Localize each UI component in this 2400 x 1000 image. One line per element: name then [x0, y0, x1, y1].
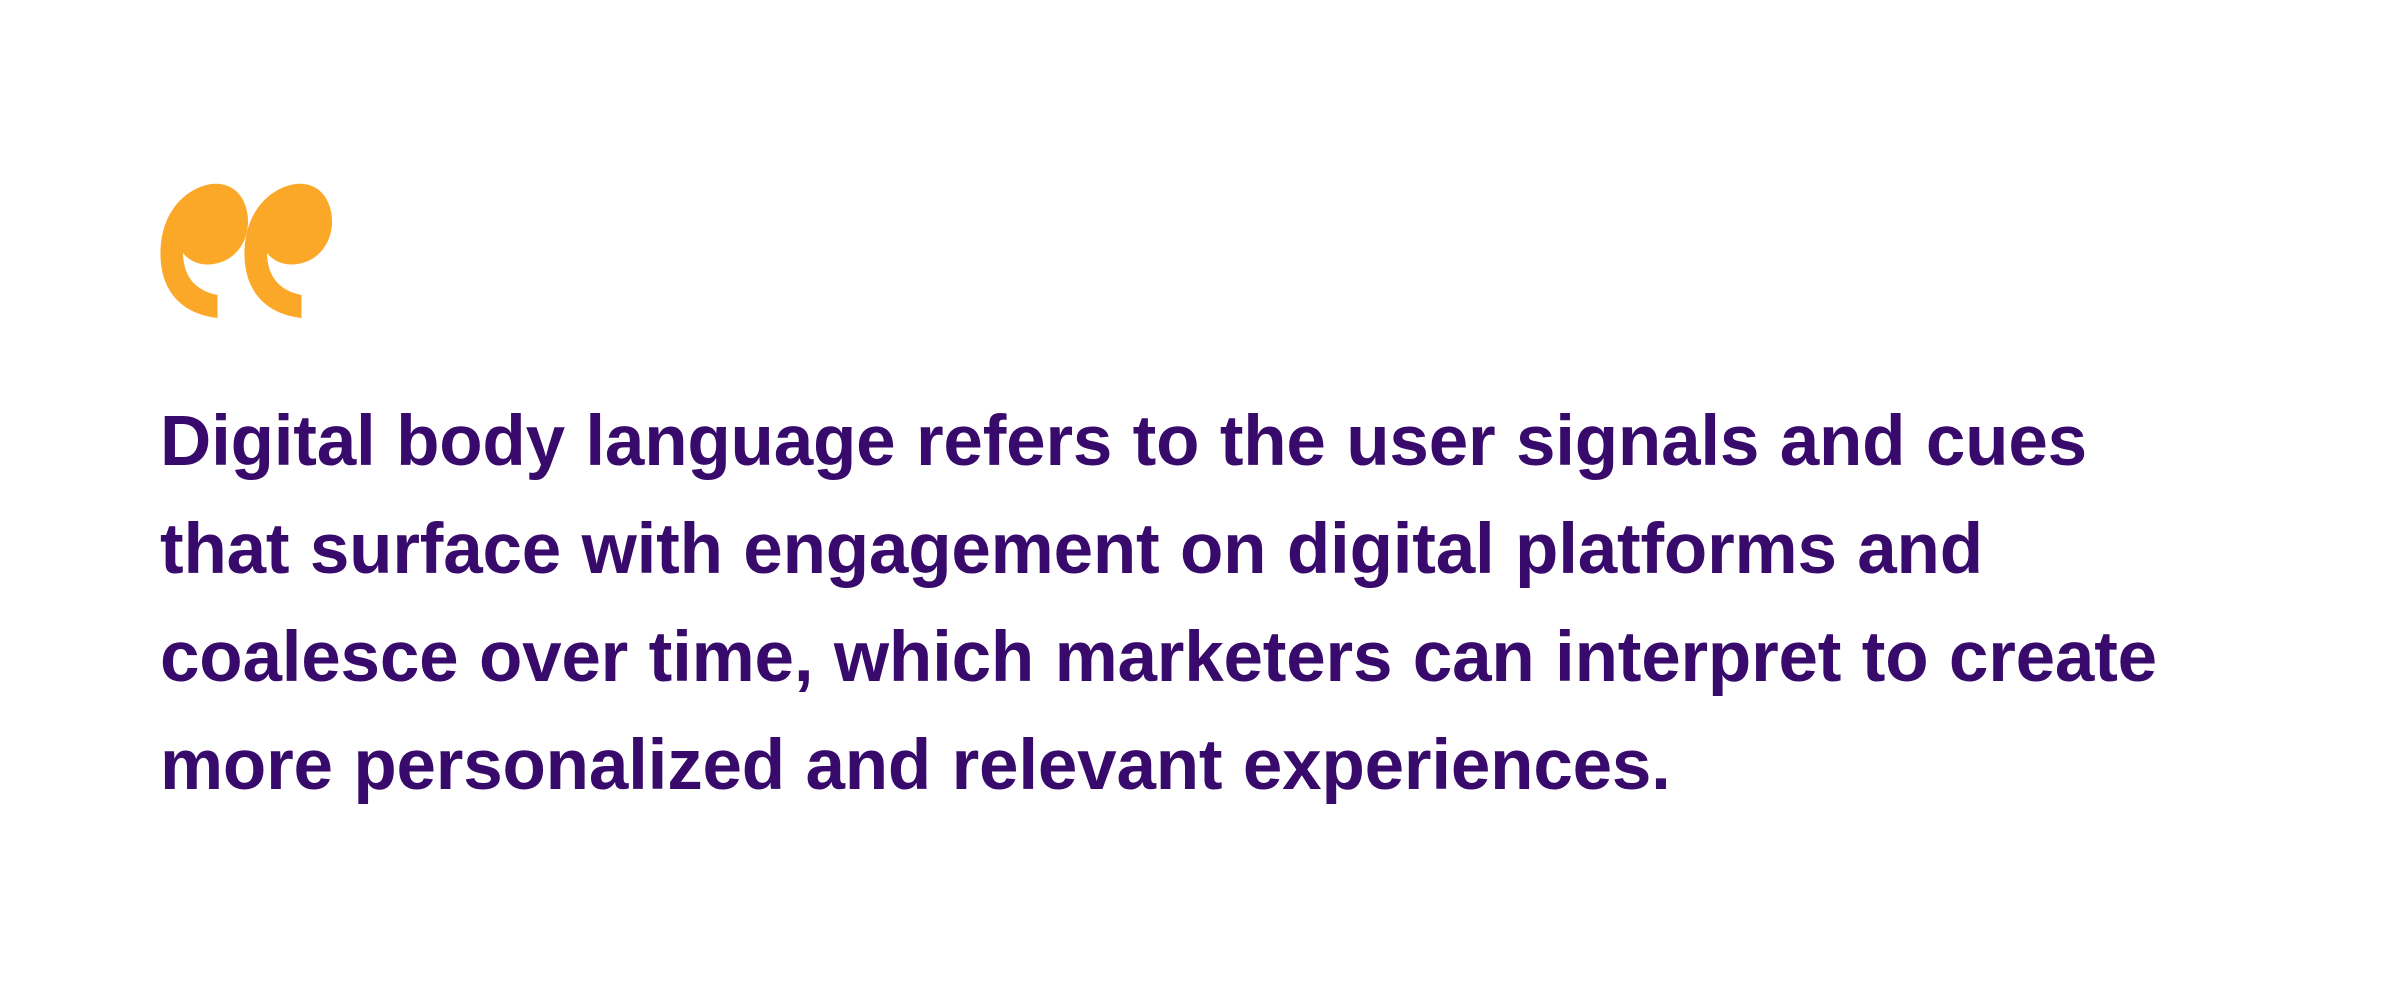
- quote-line: coalesce over time, which marketers can …: [160, 604, 2220, 712]
- quote-line: more personalized and relevant experienc…: [160, 712, 2220, 820]
- quote-line: that surface with engagement on digital …: [160, 496, 2220, 604]
- quote-text: Digital body language refers to the user…: [160, 388, 2220, 820]
- quote-line: Digital body language refers to the user…: [160, 388, 2220, 496]
- double-quote-open-icon: [160, 182, 332, 318]
- pull-quote-card: Digital body language refers to the user…: [0, 0, 2400, 1000]
